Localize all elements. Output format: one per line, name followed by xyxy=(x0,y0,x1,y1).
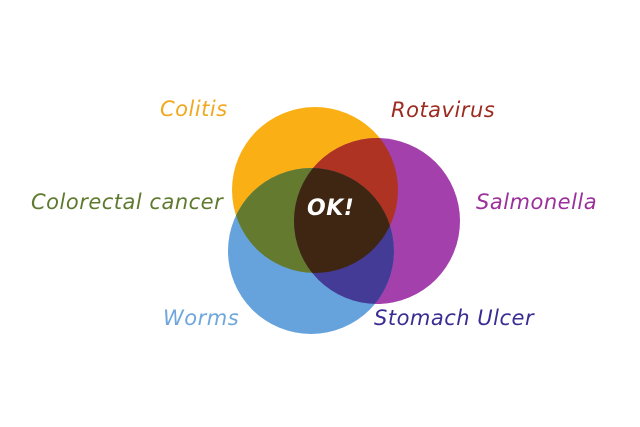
label-stomach-ulcer[interactable]: Stomach Ulcer xyxy=(374,308,534,329)
label-center-ok: OK! xyxy=(307,198,354,220)
label-rotavirus[interactable]: Rotavirus xyxy=(391,100,495,121)
label-colorectal-cancer[interactable]: Colorectal cancer xyxy=(31,192,223,213)
label-worms[interactable]: Worms xyxy=(163,308,239,329)
label-colitis[interactable]: Colitis xyxy=(160,99,228,120)
venn-diagram: Colitis Rotavirus Colorectal cancer Salm… xyxy=(0,0,640,427)
label-salmonella[interactable]: Salmonella xyxy=(476,192,597,213)
